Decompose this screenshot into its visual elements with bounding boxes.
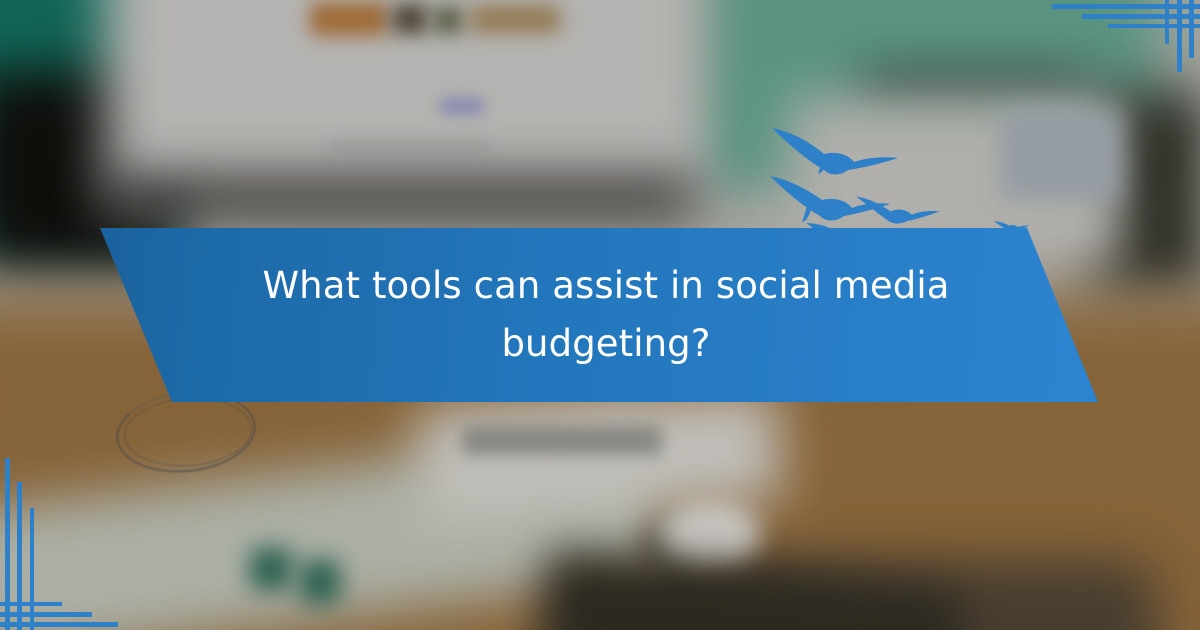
headline-banner: What tools can assist in social media bu… bbox=[0, 222, 1200, 408]
deco-line-v6 bbox=[30, 508, 34, 630]
deco-line-h3 bbox=[1108, 24, 1200, 28]
deco-line-v5 bbox=[17, 482, 22, 630]
deco-line-v1 bbox=[1177, 0, 1182, 72]
deco-line-v2 bbox=[1189, 0, 1194, 58]
headline-text: What tools can assist in social media bu… bbox=[0, 222, 1200, 408]
deco-line-h2 bbox=[1082, 14, 1200, 19]
deco-line-v4 bbox=[5, 458, 10, 630]
bird-icon bbox=[770, 176, 890, 222]
deco-line-v3 bbox=[1165, 0, 1169, 44]
flying-birds-flock bbox=[770, 118, 1020, 228]
promo-card: What tools can assist in social media bu… bbox=[0, 0, 1200, 630]
deco-line-h4 bbox=[0, 612, 92, 617]
bird-icon bbox=[772, 128, 898, 175]
headline-line-1: What tools can assist in social media bbox=[262, 258, 949, 314]
headline-line-2: budgeting? bbox=[501, 316, 710, 372]
